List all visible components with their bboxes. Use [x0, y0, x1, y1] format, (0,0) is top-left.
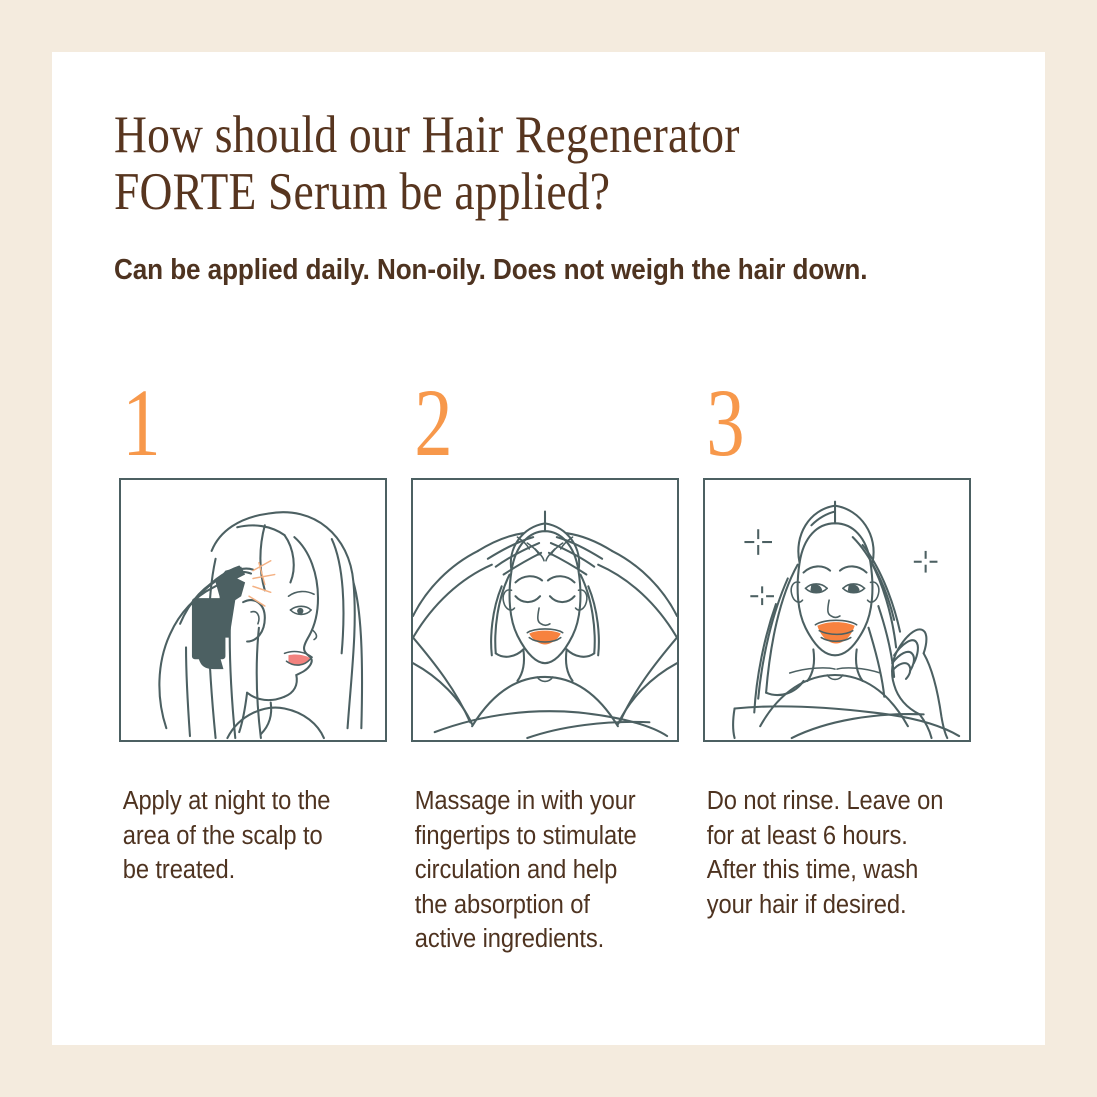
step-item-3: 3	[703, 370, 973, 957]
steps-list: 1	[119, 370, 1029, 957]
step-item-2: 2	[411, 370, 681, 957]
content-card: How should our Hair Regenerator FORTE Se…	[52, 52, 1045, 1045]
step-item-1: 1	[119, 370, 389, 957]
step-caption-1: Apply at night to the area of the scalp …	[119, 742, 370, 888]
step-number-2: 2	[411, 370, 627, 478]
step-illustration-1	[119, 478, 387, 742]
sparkle-icon-3	[750, 586, 774, 605]
step-number-1: 1	[119, 370, 335, 478]
step-illustration-2	[411, 478, 679, 742]
page-subtitle: Can be applied daily. Non-oily. Does not…	[114, 221, 906, 286]
sparkle-icon-1	[744, 529, 772, 555]
illustration-apply-serum	[121, 480, 385, 740]
step-caption-3: Do not rinse. Leave on for at least 6 ho…	[703, 742, 954, 922]
page-frame: How should our Hair Regenerator FORTE Se…	[0, 0, 1097, 1097]
page-title: How should our Hair Regenerator FORTE Se…	[114, 107, 871, 221]
illustration-shiny-hair-result	[705, 480, 969, 740]
step-number-3: 3	[703, 370, 919, 478]
heading-block: How should our Hair Regenerator FORTE Se…	[114, 107, 994, 286]
step-illustration-3	[703, 478, 971, 742]
step-caption-2: Massage in with your fingertips to stimu…	[411, 742, 662, 957]
sparkle-icon-2	[914, 551, 938, 573]
illustration-massage-scalp	[413, 480, 677, 740]
